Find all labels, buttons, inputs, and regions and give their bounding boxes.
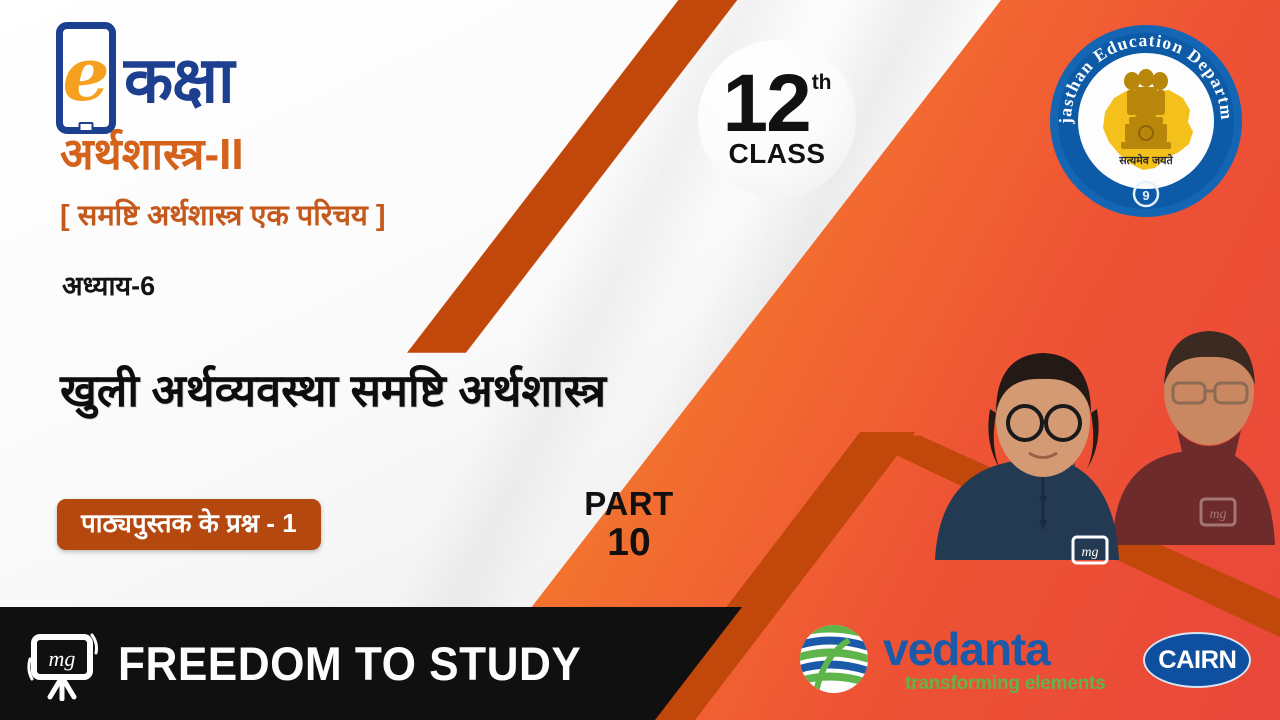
presenters-photo: mg mg xyxy=(905,215,1280,605)
banner-tagline: FREEDOM TO STUDY xyxy=(118,636,581,691)
part-label: PART xyxy=(549,487,709,521)
subject-subtitle: [ समष्टि अर्थशास्त्र एक परिचय ] xyxy=(60,202,386,231)
question-set-badge: पाठ्यपुस्तक के प्रश्न - 1 xyxy=(57,499,321,550)
brand-logo-letter: e xyxy=(62,38,109,112)
freedom-to-study-banner: mg FREEDOM TO STUDY xyxy=(0,607,742,720)
subject-title: अर्थशास्त्र-II xyxy=(60,133,244,177)
vedanta-wordmark: vedanta transforming elements xyxy=(883,626,1106,693)
svg-text:mg: mg xyxy=(1209,507,1226,522)
mg-easel-icon: mg xyxy=(26,627,100,701)
mg-logo-text: mg xyxy=(49,646,76,671)
smartphone-icon: e xyxy=(56,22,116,134)
brand-logo: e कक्षा xyxy=(56,22,234,134)
cairn-oval-icon: CAIRN xyxy=(1143,632,1251,688)
thumbnail-canvas: e कक्षा अर्थशास्त्र-II [ समष्टि अर्थशास्… xyxy=(0,0,1280,720)
vedanta-tagline: transforming elements xyxy=(905,674,1106,693)
brand-logo-word: कक्षा xyxy=(124,48,234,112)
presenter-female: mg xyxy=(935,353,1119,563)
part-indicator: PART 10 xyxy=(549,487,709,562)
ashoka-capital-icon xyxy=(1121,69,1171,149)
class-label: CLASS xyxy=(729,138,826,170)
emblem-motto: सत्यमेव जयते xyxy=(1118,153,1173,167)
vedanta-logo: vedanta transforming elements xyxy=(795,620,1106,698)
vedanta-name: vedanta xyxy=(883,626,1106,672)
class-number: 12 xyxy=(722,68,809,140)
class-number-row: 12 th xyxy=(722,68,831,140)
presenter-male: mg xyxy=(1113,331,1275,545)
class-ordinal-suffix: th xyxy=(812,74,832,92)
rajasthan-education-department-emblem: Rajasthan Education Department सत्यमेव ज… xyxy=(1043,18,1249,224)
class-badge: 12 th CLASS xyxy=(698,40,856,198)
chapter-title: खुली अर्थव्यवस्था समष्टि अर्थशास्त्र xyxy=(60,366,606,416)
vedanta-globe-icon xyxy=(795,620,873,698)
part-number: 10 xyxy=(549,523,709,563)
svg-text:mg: mg xyxy=(1081,545,1098,560)
chapter-number: अध्याय-6 xyxy=(62,273,155,300)
emblem-sub-glyph: 9 xyxy=(1142,188,1149,203)
cairn-name: CAIRN xyxy=(1158,646,1236,675)
